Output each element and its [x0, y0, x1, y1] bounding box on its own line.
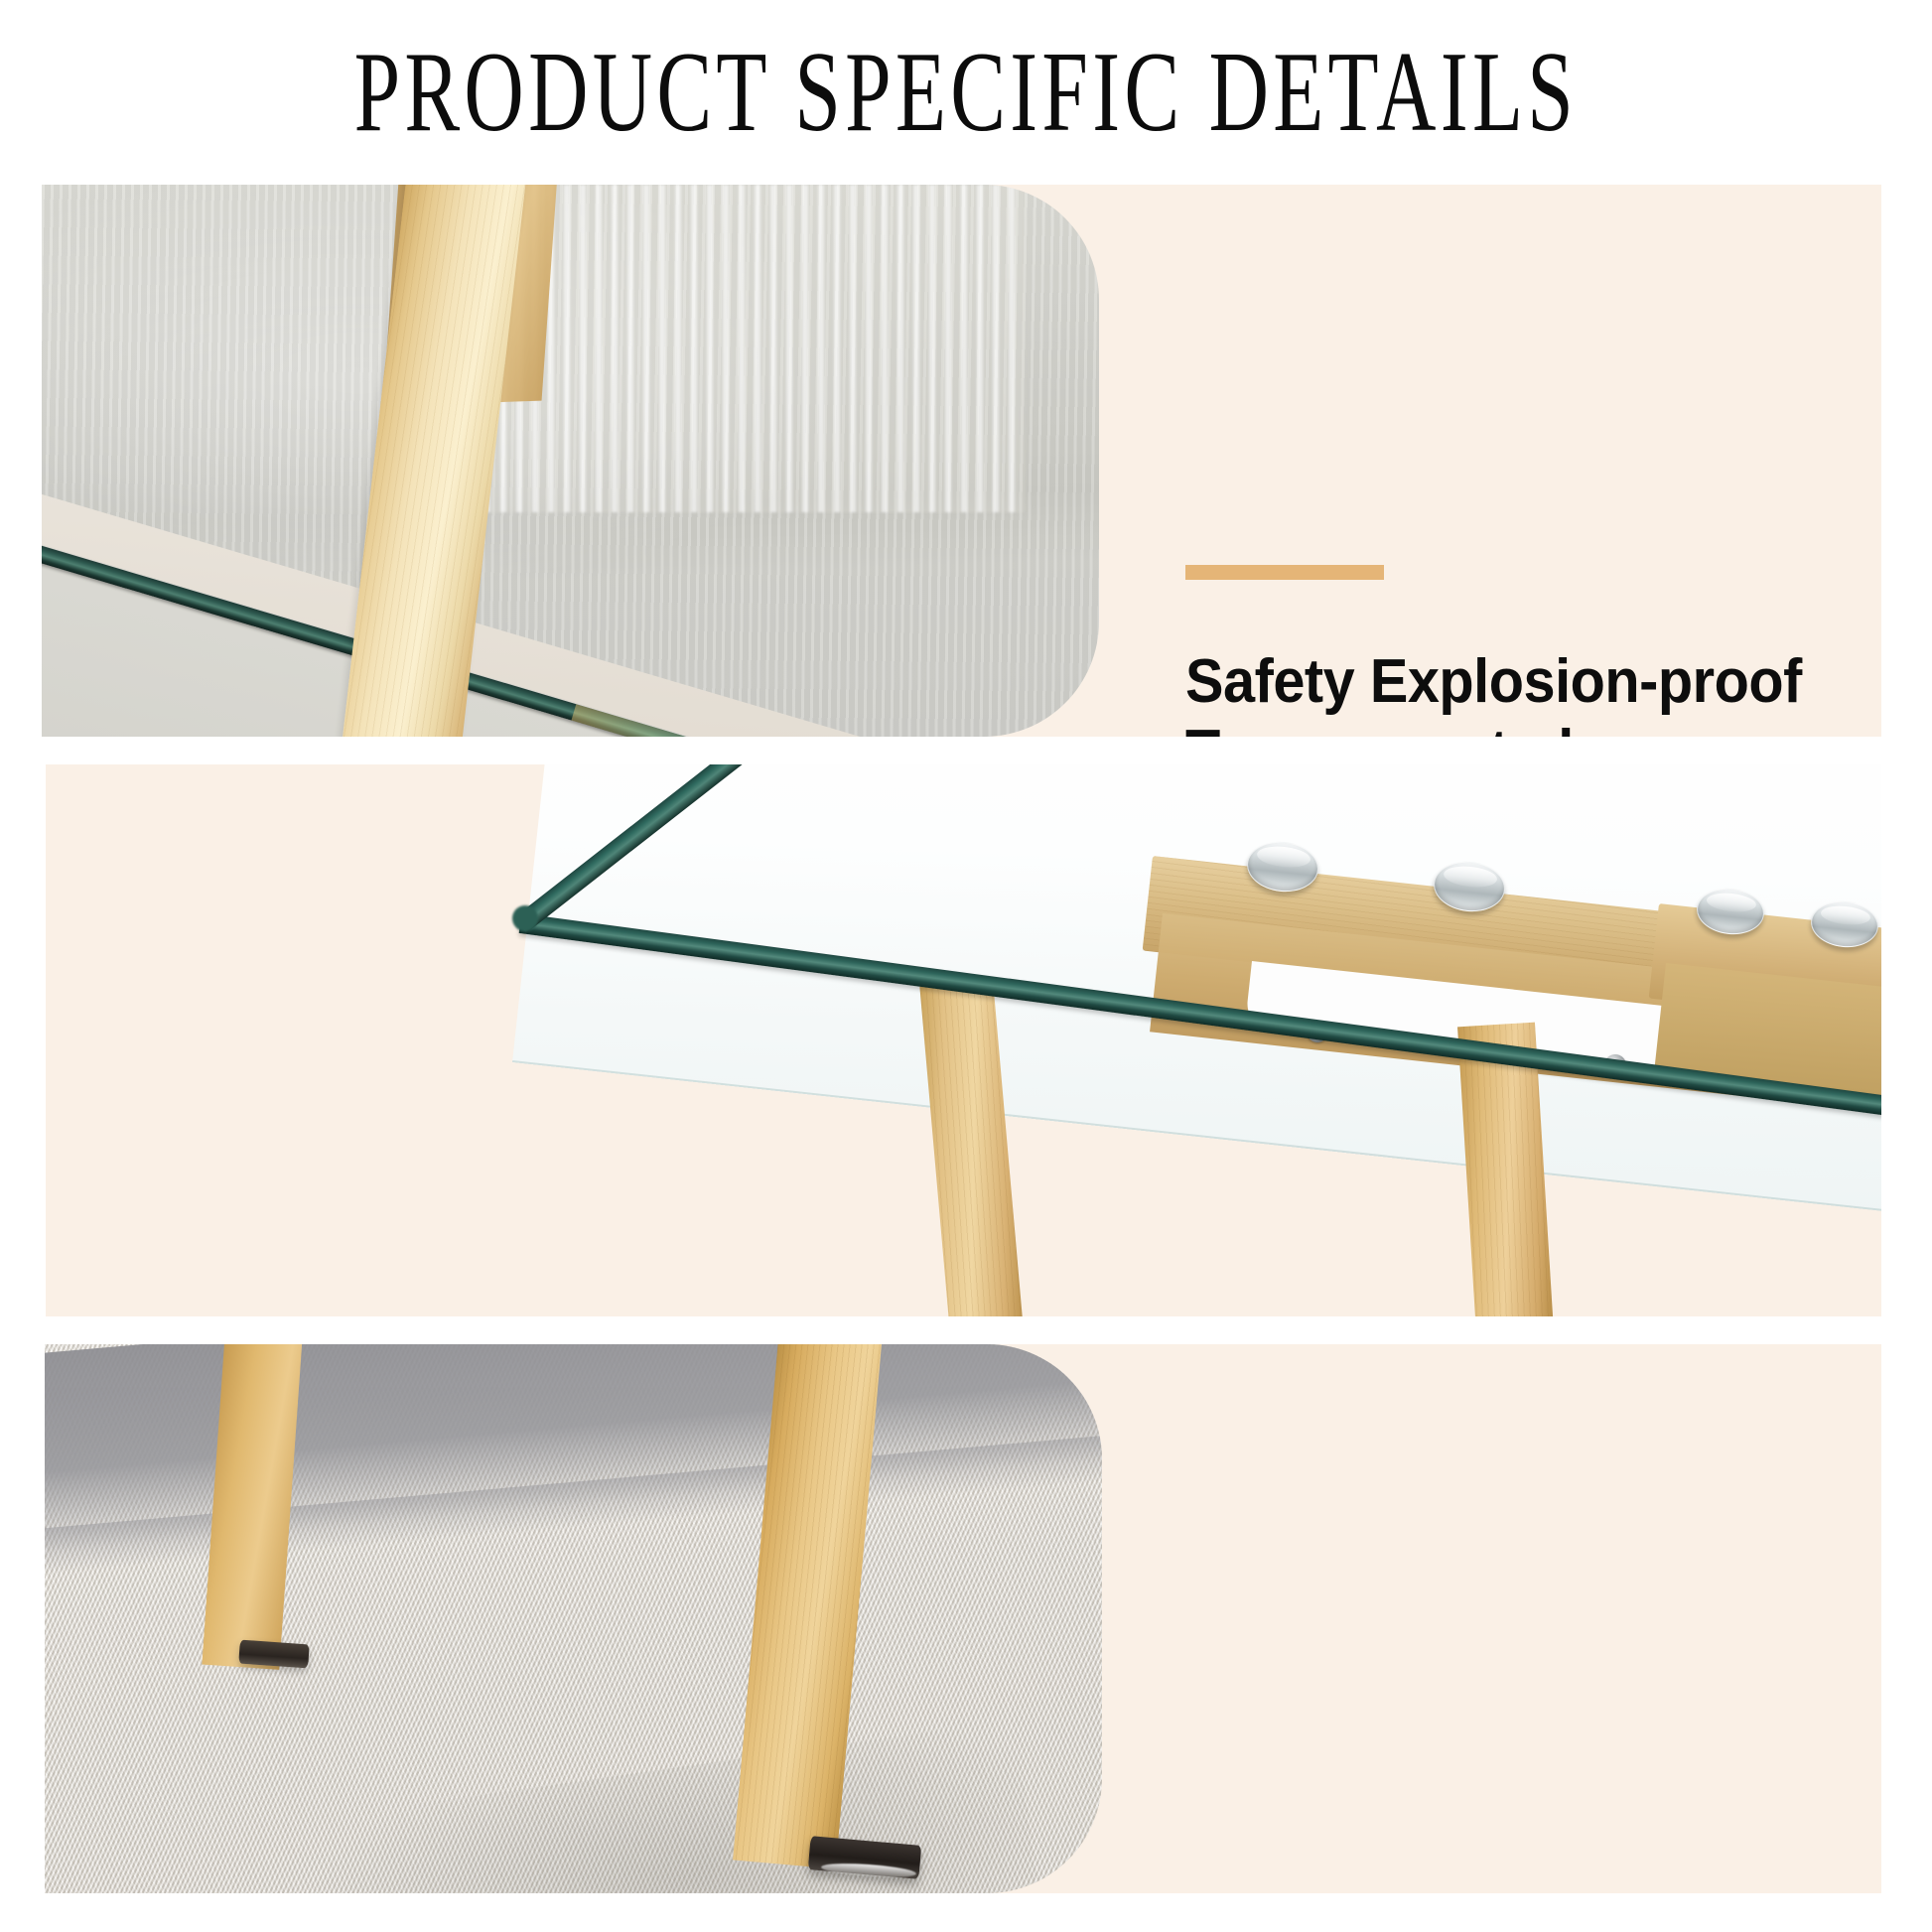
title-bar: PRODUCT SPECIFIC DETAILS	[0, 0, 1932, 185]
infographic-page: PRODUCT SPECIFIC DETAILS Safety Explosio…	[0, 0, 1932, 1932]
feature-text-safety-glass: Safety Explosion-proof Transparent glass	[1185, 565, 1849, 737]
photo-foot-mats	[45, 1344, 1102, 1893]
feature-section-safety-glass: Safety Explosion-proof Transparent glass	[42, 185, 1881, 737]
accent-bar-icon	[1185, 565, 1384, 580]
feature-label-safety-glass: Safety Explosion-proof Transparent glass	[1185, 647, 1802, 737]
anti-slip-foot-pad-secondary	[238, 1640, 310, 1669]
photo-safety-glass	[42, 185, 1099, 737]
feature-section-metal-frame: Sturdy & Beautiful Metal Frame	[46, 764, 1881, 1316]
glass-corner-tip	[512, 905, 538, 931]
feature-section-foot-mats: Stable & durable Anti-Slip Foot Mats	[45, 1344, 1881, 1893]
photo-metal-frame	[46, 764, 1881, 1316]
page-title: PRODUCT SPECIFIC DETAILS	[354, 35, 1578, 150]
